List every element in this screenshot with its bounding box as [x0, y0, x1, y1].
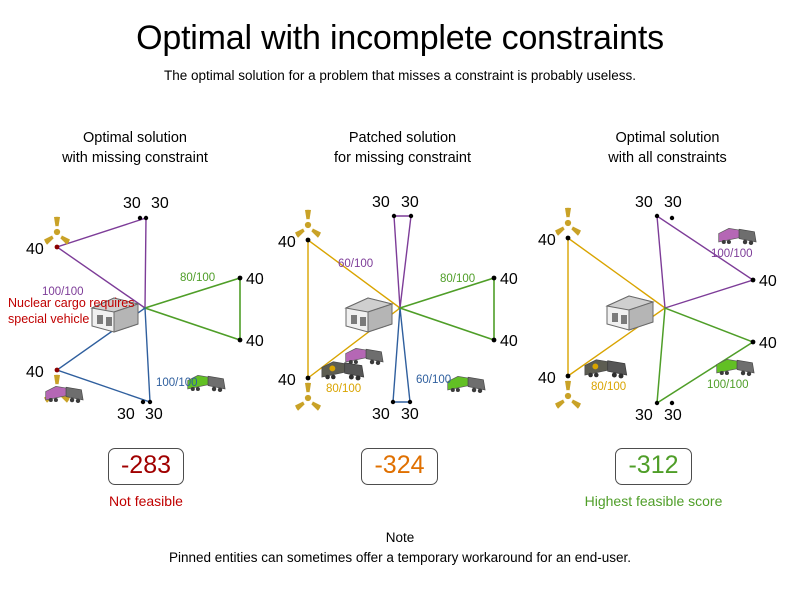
panel-optimal-missing-constraint: Optimal solution with missing constraint [0, 120, 270, 440]
score-value: -324 [361, 448, 437, 485]
warehouse-icon [607, 296, 653, 330]
score-panel-3: -312 Highest feasible score [507, 448, 800, 509]
panel-1-diagram: 100/100 80/100 100/100 30 30 40 40 40 40… [0, 120, 270, 440]
panel-2-diagram: 60/100 80/100 60/100 80/100 30 30 40 40 … [270, 120, 535, 440]
vehicle-load-label: 100/100 [707, 379, 749, 391]
green-truck-icon [448, 376, 485, 393]
radiation-icon [555, 381, 581, 409]
node-demand-label: 30 [401, 194, 419, 211]
purple-truck-icon [46, 386, 83, 403]
route-green [400, 278, 494, 340]
vehicle-load-label: 100/100 [711, 248, 753, 260]
node-demand-label: 40 [26, 364, 44, 381]
radiation-icon [295, 383, 321, 411]
panel-3-diagram: 100/100 100/100 80/100 30 30 40 40 40 40… [535, 120, 800, 440]
node-demand-label: 30 [635, 194, 653, 211]
route-blue [393, 308, 410, 402]
purple-truck-icon [346, 348, 383, 365]
nuclear-constraint-warning: Nuclear cargo requires special vehicle [8, 295, 198, 327]
vehicle-load-label: 80/100 [440, 273, 475, 285]
node-demand-label: 40 [759, 335, 777, 352]
node-demand-label: 30 [145, 406, 163, 423]
node-demand-label: 30 [372, 194, 390, 211]
node-demand-label: 40 [538, 232, 556, 249]
node-demand-label: 40 [759, 273, 777, 290]
node-demand-label: 40 [246, 333, 264, 350]
nuclear-truck-icon [322, 362, 364, 381]
radiation-icon [555, 208, 581, 236]
vehicle-load-label: 80/100 [326, 383, 361, 395]
green-truck-icon [717, 359, 754, 376]
page-subtitle: The optimal solution for a problem that … [0, 68, 800, 83]
vehicle-load-label: 80/100 [180, 272, 215, 284]
node-demand-label: 40 [278, 372, 296, 389]
note-label: Note [0, 528, 800, 548]
note-text: Pinned entities can sometimes offer a te… [0, 548, 800, 568]
node-demand-label: 30 [123, 195, 141, 212]
score-panel-2: -324 [292, 448, 507, 493]
warning-line-1: Nuclear cargo requires [8, 295, 198, 311]
radiation-icon [44, 217, 70, 245]
vehicle-load-label: 100/100 [156, 377, 198, 389]
node-demand-label: 30 [117, 406, 135, 423]
node-demand-label: 40 [500, 271, 518, 288]
node-demand-label: 40 [246, 271, 264, 288]
warning-line-2: special vehicle [8, 311, 198, 327]
route-purple [394, 216, 411, 308]
purple-truck-icon [719, 228, 756, 245]
score-caption: Highest feasible score [585, 493, 723, 509]
node-demand-label: 40 [538, 370, 556, 387]
radiation-icon [295, 210, 321, 238]
node-demand-label: 30 [664, 407, 682, 424]
node-demand-label: 40 [278, 234, 296, 251]
vehicle-load-label: 60/100 [338, 258, 373, 270]
node-demand-label: 30 [635, 407, 653, 424]
footer-note: Note Pinned entities can sometimes offer… [0, 528, 800, 568]
node-demand-label: 30 [664, 194, 682, 211]
nuclear-truck-icon [585, 360, 627, 379]
node-demand-label: 30 [372, 406, 390, 423]
node-demand-label: 40 [500, 333, 518, 350]
score-value: -312 [615, 448, 691, 485]
page-title: Optimal with incomplete constraints [0, 18, 800, 58]
score-panel-1: -283 Not feasible [0, 448, 292, 509]
score-caption: Not feasible [109, 493, 183, 509]
vehicle-load-label: 60/100 [416, 374, 451, 386]
node-demand-label: 30 [401, 406, 419, 423]
score-value: -283 [108, 448, 184, 485]
panel-patched-solution: Patched solution for missing constraint [270, 120, 535, 440]
vehicle-load-label: 80/100 [591, 381, 626, 393]
node-demand-label: 40 [26, 241, 44, 258]
node-demand-label: 30 [151, 195, 169, 212]
panel-optimal-all-constraints: Optimal solution with all constraints [535, 120, 800, 440]
warehouse-icon [346, 298, 392, 332]
